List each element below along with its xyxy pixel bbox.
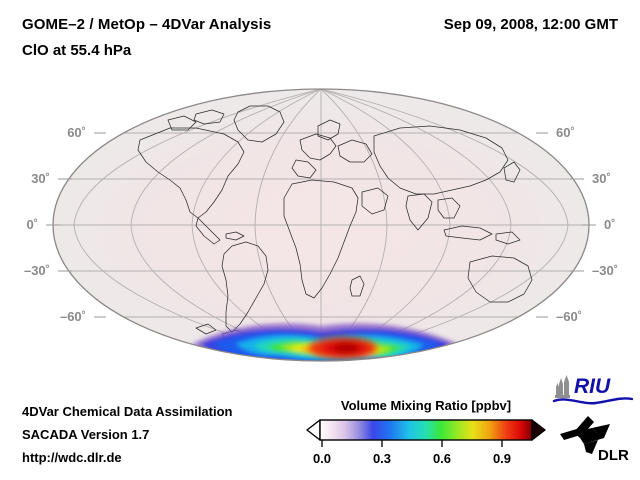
colorbar-high-arrow [532,420,545,440]
riu-label: RIU [574,375,611,398]
lat-label-right-60: 60˚ [556,125,575,140]
colorbar-tick-1: 0.3 [373,451,391,466]
lat-label-left-60: 60˚ [67,125,86,140]
colorbar-tick-3: 0.9 [493,451,511,466]
dlr-label: DLR [598,447,629,464]
timestamp-label: Sep 09, 2008, 12:00 GMT [444,16,618,33]
colorbar: Volume Mixing Ratio [ppbv] [306,398,546,470]
colorbar-tick-2: 0.6 [433,451,451,466]
lat-label-left-0: 0˚ [26,217,38,232]
page-subtitle: ClO at 55.4 hPa [22,42,131,59]
lat-label-left-30: 30˚ [31,171,50,186]
colorbar-low-arrow [307,420,320,440]
globe-body [53,89,589,384]
map-panel: 60˚ 30˚ 0˚ –30˚ –60˚ 60˚ 30˚ 0˚ –30˚ –60… [0,84,640,384]
colorbar-tick-0: 0.0 [313,451,331,466]
core-max [309,337,377,359]
riu-spire-icon [556,375,569,396]
footer-line-version: SACADA Version 1.7 [22,423,233,446]
footer-line-url[interactable]: http://wdc.dlr.de [22,446,233,469]
riu-logo: RIU [552,374,634,408]
riu-spire-base [555,395,570,398]
lat-label-right-m60: –60˚ [556,309,582,324]
colorbar-scale: 0.0 0.3 0.6 0.9 [306,418,546,470]
colorbar-ticks [322,440,502,447]
dlr-logo: DLR [558,414,634,466]
lat-label-right-0: 0˚ [604,217,616,232]
lat-label-left-m30: –30˚ [24,263,50,278]
riu-wave-icon [554,398,632,403]
lat-label-right-m30: –30˚ [592,263,618,278]
colorbar-title: Volume Mixing Ratio [ppbv] [306,398,546,413]
footer-info: 4DVar Chemical Data Assimilation SACADA … [22,400,233,469]
lat-label-right-30: 30˚ [592,171,611,186]
page-title: GOME–2 / MetOp – 4DVar Analysis [22,16,271,33]
lat-label-left-m60: –60˚ [60,309,86,324]
world-map: 60˚ 30˚ 0˚ –30˚ –60˚ 60˚ 30˚ 0˚ –30˚ –60… [0,84,640,384]
footer-line-project: 4DVar Chemical Data Assimilation [22,400,233,423]
colorbar-gradient [320,420,532,440]
